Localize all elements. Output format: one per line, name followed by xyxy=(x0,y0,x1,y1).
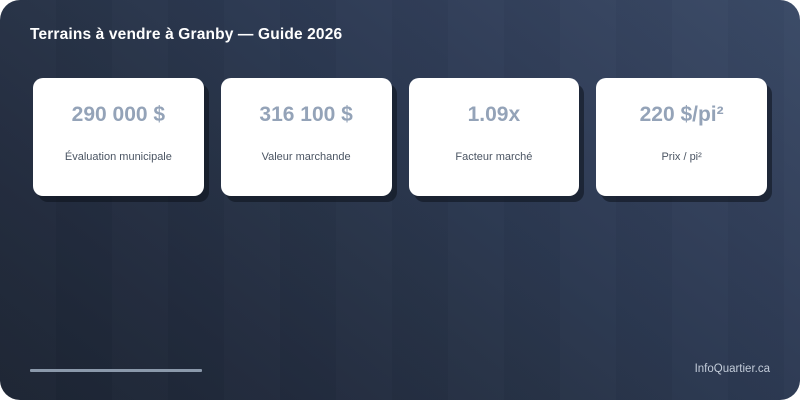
stat-card-row: 290 000 $ Évaluation municipale 316 100 … xyxy=(33,78,767,196)
stat-card: 220 $/pi² Prix / pi² xyxy=(596,78,767,196)
stat-card: 290 000 $ Évaluation municipale xyxy=(33,78,204,196)
stat-card-value: 1.09x xyxy=(468,104,521,125)
stat-card-value: 316 100 $ xyxy=(259,104,352,125)
stat-card-label: Prix / pi² xyxy=(661,152,701,163)
stat-card-label: Évaluation municipale xyxy=(65,152,172,163)
stat-card-value: 220 $/pi² xyxy=(640,104,724,125)
stat-card-label: Facteur marché xyxy=(455,152,532,163)
stat-card-value: 290 000 $ xyxy=(72,104,165,125)
footer-brand: InfoQuartier.ca xyxy=(695,363,770,375)
page-title: Terrains à vendre à Granby — Guide 2026 xyxy=(30,26,342,44)
footer-divider xyxy=(30,369,202,372)
infographic-canvas: Terrains à vendre à Granby — Guide 2026 … xyxy=(0,0,800,400)
stat-card: 316 100 $ Valeur marchande xyxy=(221,78,392,196)
stat-card: 1.09x Facteur marché xyxy=(409,78,580,196)
stat-card-label: Valeur marchande xyxy=(262,152,351,163)
